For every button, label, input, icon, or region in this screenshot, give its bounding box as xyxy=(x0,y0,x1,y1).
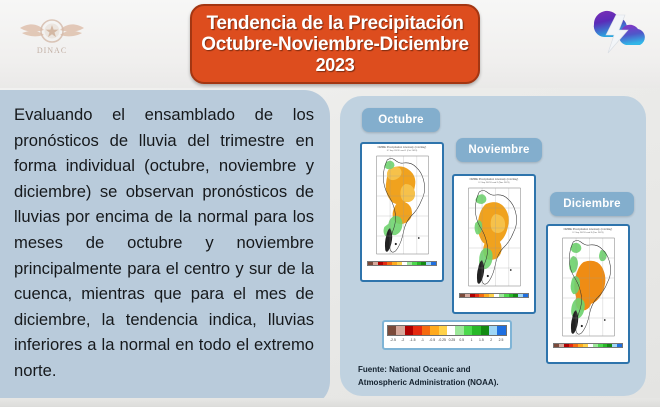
legend-tick: 0.5 xyxy=(457,337,467,343)
source-credit: Fuente: National Oceanic and Atmospheric… xyxy=(358,364,598,389)
map-label-diciembre: Diciembre xyxy=(550,192,634,216)
legend-tick: -2 xyxy=(398,337,408,343)
map-card-diciembre[interactable]: NMME Precipitation Anomaly (mm/day) IC S… xyxy=(546,224,630,364)
source-line-2: Atmospheric Administration (NOAA). xyxy=(358,377,598,390)
dinac-logo: DINAC xyxy=(14,6,90,58)
legend-tick: -0.5 xyxy=(427,337,437,343)
title-line-2: Octubre-Noviembre-Diciembre xyxy=(201,34,468,55)
map-subtitle-diciembre: IC Sep 2023 Lead 3 (Dec 2023) xyxy=(548,232,628,235)
description-text: Evaluando el ensamblado de los pronóstic… xyxy=(14,102,314,384)
title-line-3: 2023 xyxy=(316,55,355,76)
map-colorbar-octubre xyxy=(367,261,437,266)
legend-tick: -1.5 xyxy=(408,337,418,343)
legend-tick: 2.5 xyxy=(496,337,506,343)
map-subtitle-octubre: IC Sep 2023 Lead 1 (Oct 2023) xyxy=(362,150,442,153)
header-band: DINAC Tendencia de la Precipitación Octu… xyxy=(0,0,660,88)
legend-tick: -1 xyxy=(417,337,427,343)
map-plot-noviembre xyxy=(461,186,528,290)
title-line-1: Tendencia de la Precipitación xyxy=(206,13,463,34)
maps-panel: Octubre Noviembre Diciembre NMME Precipi… xyxy=(340,96,646,396)
map-colorbar-diciembre xyxy=(553,343,623,348)
storm-cloud-lightning-icon xyxy=(586,2,648,56)
slide-bottom-edge xyxy=(0,398,660,407)
legend-tick: 2 xyxy=(486,337,496,343)
legend-tick-labels: -2.5 -2 -1.5 -1 -0.5 -0.25 0.25 0.5 1 1.… xyxy=(387,337,507,343)
map-label-octubre: Octubre xyxy=(362,108,440,132)
source-line-1: Fuente: National Oceanic and xyxy=(358,364,598,377)
map-subtitle-noviembre: IC Sep 2023 Lead 2 (Nov 2023) xyxy=(454,182,534,185)
map-colorbar-noviembre xyxy=(459,293,529,298)
legend-tick: -2.5 xyxy=(388,337,398,343)
slide-title-box: Tendencia de la Precipitación Octubre-No… xyxy=(190,4,480,84)
legend-tick: 0.25 xyxy=(447,337,457,343)
legend-tick: 1.5 xyxy=(476,337,486,343)
legend-tick: -0.25 xyxy=(437,337,447,343)
map-plot-diciembre xyxy=(555,236,622,340)
description-panel: Evaluando el ensamblado de los pronóstic… xyxy=(0,90,330,407)
map-card-noviembre[interactable]: NMME Precipitation Anomaly (mm/day) IC S… xyxy=(452,174,536,314)
map-card-octubre[interactable]: NMME Precipitation Anomaly (mm/day) IC S… xyxy=(360,142,444,282)
legend-tick: 1 xyxy=(467,337,477,343)
map-label-noviembre: Noviembre xyxy=(456,138,542,162)
precipitation-anomaly-legend: -2.5 -2 -1.5 -1 -0.5 -0.25 0.25 0.5 1 1.… xyxy=(382,320,512,350)
map-plot-octubre xyxy=(369,154,436,258)
legend-color-bar xyxy=(387,325,507,336)
dinac-logo-caption: DINAC xyxy=(37,46,67,55)
